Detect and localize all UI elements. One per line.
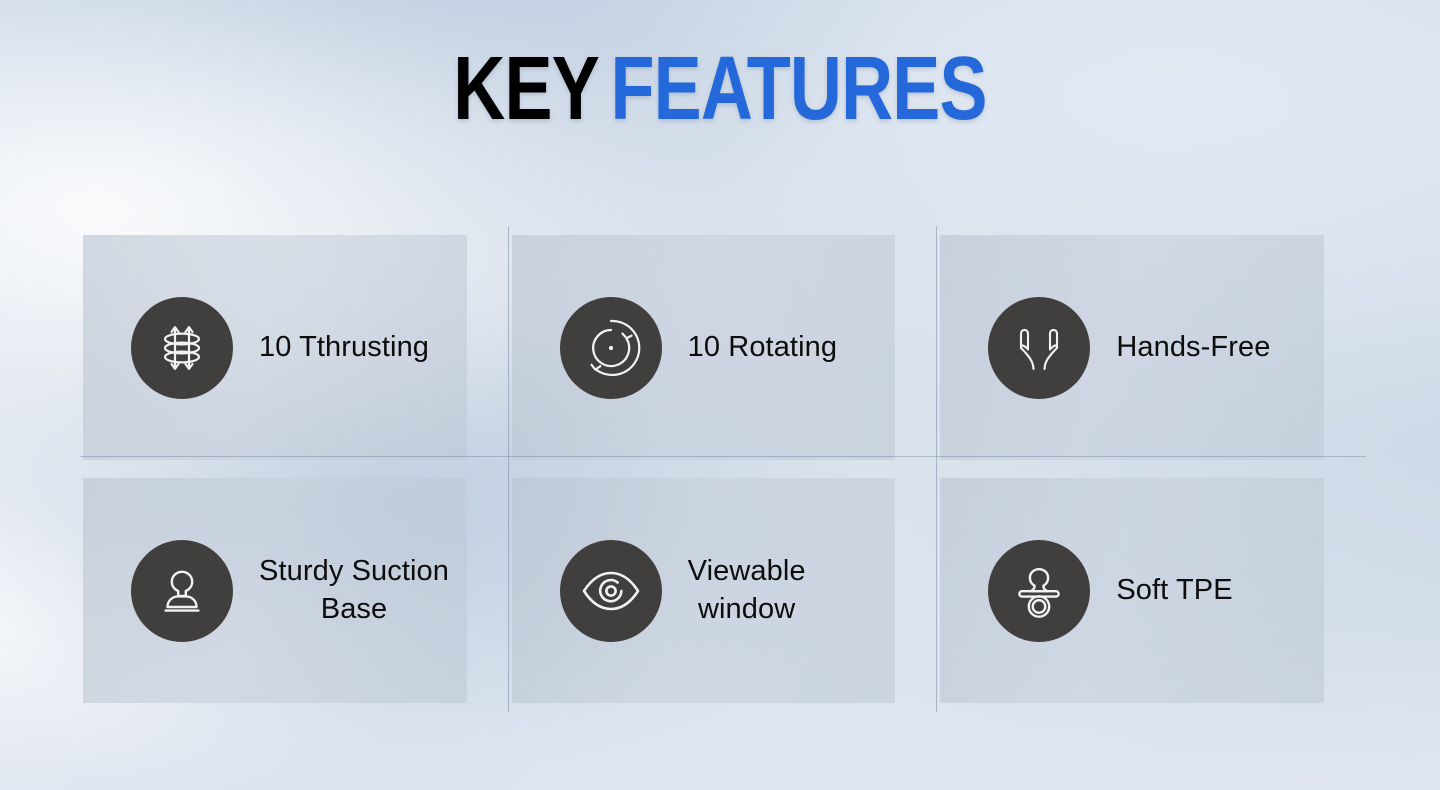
feature-cell-suction-base[interactable]: Sturdy Suction Base — [80, 469, 509, 712]
page-title: KEYFEATURES — [144, 44, 1296, 134]
feature-highlight-slide: KEYFEATURES — [0, 0, 1440, 790]
feature-panel: Soft TPE — [940, 478, 1324, 703]
suction-stamp-icon — [131, 540, 233, 642]
rotating-arrows-icon — [560, 297, 662, 399]
features-grid: 10 Tthrusting 10 R — [80, 226, 1366, 712]
page-title-part-1: KEY — [453, 39, 599, 139]
feature-panel: 10 Tthrusting — [83, 235, 467, 460]
pacifier-icon — [988, 540, 1090, 642]
feature-cell-rotating[interactable]: 10 Rotating — [509, 226, 938, 469]
row-divider — [80, 456, 1366, 457]
feature-label: Soft TPE — [1116, 572, 1232, 610]
feature-cell-viewable-window[interactable]: Viewable window — [509, 469, 938, 712]
page-title-part-2: FEATURES — [610, 39, 986, 139]
feature-cell-thrusting[interactable]: 10 Tthrusting — [80, 226, 509, 469]
feature-label: Sturdy Suction Base — [259, 553, 449, 628]
feature-label: Viewable window — [688, 553, 806, 628]
feature-label: 10 Tthrusting — [259, 329, 429, 367]
thrusting-arrows-icon — [131, 297, 233, 399]
feature-label: 10 Rotating — [688, 329, 837, 367]
open-hands-icon — [988, 297, 1090, 399]
feature-cell-soft-tpe[interactable]: Soft TPE — [937, 469, 1366, 712]
eye-icon — [560, 540, 662, 642]
feature-label: Hands-Free — [1116, 329, 1270, 367]
feature-cell-hands-free[interactable]: Hands-Free — [937, 226, 1366, 469]
feature-panel: Sturdy Suction Base — [83, 478, 467, 703]
feature-panel: Hands-Free — [940, 235, 1324, 460]
feature-panel: 10 Rotating — [512, 235, 896, 460]
feature-panel: Viewable window — [512, 478, 896, 703]
